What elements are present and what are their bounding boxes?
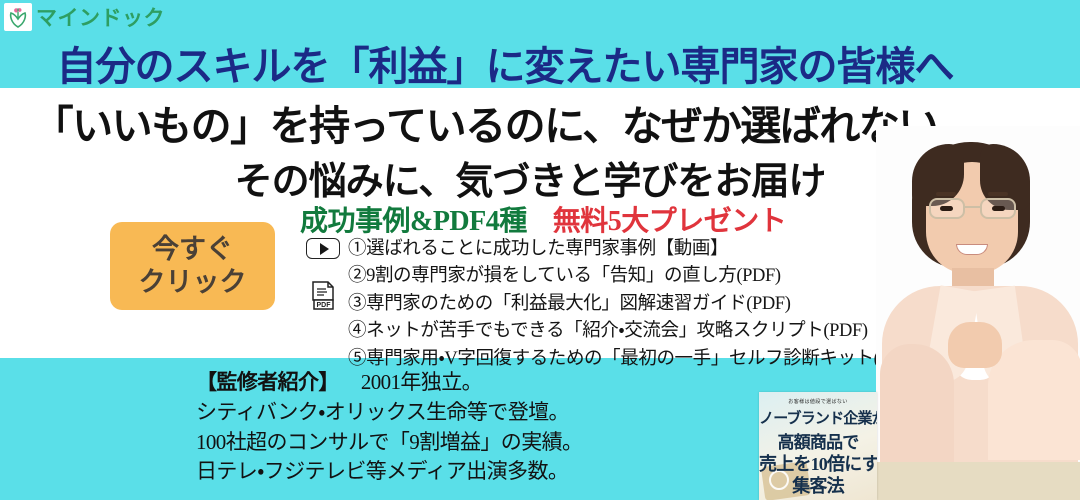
headline-secondary: 「いいもの」を持っているのに、なぜか選ばれない。 (0, 92, 1010, 152)
profile-heading: 【監修者紹介】 (196, 370, 339, 394)
profile-line-2: シティバンク・オリックス生命等で登壇。 (196, 398, 582, 428)
profile-heading-row: 【監修者紹介】2001年独立。 (196, 368, 582, 398)
book-title-line1: ノーブランド企業が (759, 407, 877, 428)
portrait-eye-left (940, 206, 953, 211)
portrait-hand (948, 322, 1002, 368)
portrait-arm-left (880, 344, 954, 462)
book-cover-image: お客様は値段で選ばない ノーブランド企業が 高額商品で 売上を10倍にする 集客… (759, 392, 877, 500)
cta-click-now-button[interactable]: 今すぐ クリック (110, 222, 275, 310)
offer-green-text: 成功事例&PDF4種 (300, 206, 527, 237)
profile-line-3: 100社超のコンサルで「9割増益」の実績。 (196, 428, 582, 458)
brand-logo[interactable]: マインドック (4, 2, 165, 32)
book-title-line4: 集客法 (759, 472, 877, 498)
play-button-icon (306, 238, 340, 259)
supervisor-portrait-photo (876, 126, 1080, 500)
portrait-eye-right (992, 206, 1005, 211)
list-item: ①選ばれることに成功した専門家事例【動画】 (348, 236, 918, 263)
supervisor-profile: 【監修者紹介】2001年独立。 シティバンク・オリックス生命等で登壇。 100社… (196, 368, 582, 487)
promo-banner: マインドック 自分のスキルを「利益」に変えたい専門家の皆様へ 「いいもの」を持っ… (0, 0, 1080, 500)
cta-label-line2: クリック (139, 266, 247, 299)
cta-label-line1: 今すぐ (152, 233, 233, 266)
tulip-leaf-icon (4, 3, 32, 31)
portrait-brow-left (936, 192, 956, 196)
profile-line-4: 日テレ・フジテレビ等メディア出演多数。 (196, 457, 582, 487)
portrait-brow-right (988, 192, 1008, 196)
offer-line: 成功事例&PDF4種無料5大プレゼント (300, 199, 786, 239)
portrait-arm-right (988, 340, 1080, 460)
gift-list: ①選ばれることに成功した専門家事例【動画】 ②9割の専門家が損をしている「告知」… (348, 236, 918, 373)
list-item: ②9割の専門家が損をしている「告知」の直し方(PDF) (348, 263, 918, 290)
list-item: ④ネットが苦手でもできる「紹介・交流会」攻略スクリプト(PDF) (348, 318, 918, 345)
headline-primary: 自分のスキルを「利益」に変えたい専門家の皆様へ (0, 34, 1010, 92)
portrait-desk (876, 462, 1080, 500)
profile-year: 2001年独立。 (361, 370, 482, 394)
offer-red-text: 無料5大プレゼント (553, 206, 787, 237)
list-item: ③専門家のための「利益最大化」図解速習ガイド(PDF) (348, 291, 918, 318)
brand-logo-text: マインドック (36, 2, 165, 32)
book-kicker-text: お客様は値段で選ばない (759, 398, 877, 405)
svg-text:PDF: PDF (317, 302, 332, 309)
gift-icon-column: PDF (306, 238, 342, 317)
portrait-glasses-bridge (965, 206, 981, 208)
pdf-document-icon: PDF (306, 280, 340, 317)
